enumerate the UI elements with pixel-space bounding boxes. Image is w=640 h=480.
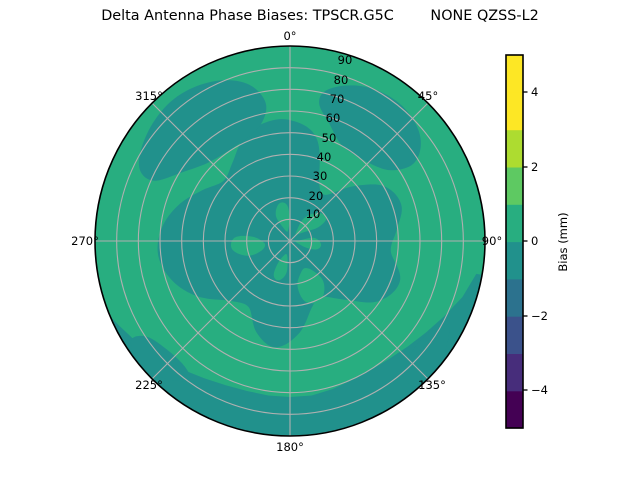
colorbar-band--2to-1 [506, 279, 523, 317]
colorbar-band--4to-3 [506, 353, 523, 391]
colorbar-band-2to3 [506, 130, 523, 168]
colorbar-band--3to-2 [506, 316, 523, 354]
colorbar-tick-label-4: 4 [531, 85, 538, 99]
colorbar-band-1to2 [506, 167, 523, 205]
colorbar-tick-label--4: −4 [531, 383, 548, 397]
colorbar-axis-label: Bias (mm) [556, 212, 570, 271]
colorbar-band--5to-4 [506, 391, 523, 429]
colorbar-tick-label-0: 0 [531, 234, 538, 248]
colorbar-tick-label-2: 2 [531, 160, 538, 174]
figure-canvas: Delta Antenna Phase Biases: TPSCR.G5C NO… [0, 0, 640, 480]
colorbar-bands [506, 55, 523, 429]
colorbar-band-3to4 [506, 92, 523, 130]
colorbar-band--1to0 [506, 242, 523, 280]
colorbar-band-0to1 [506, 204, 523, 242]
colorbar-band-4to5 [506, 55, 523, 93]
colorbar-tick-label--2: −2 [531, 309, 548, 323]
colorbar[interactable] [0, 0, 640, 480]
